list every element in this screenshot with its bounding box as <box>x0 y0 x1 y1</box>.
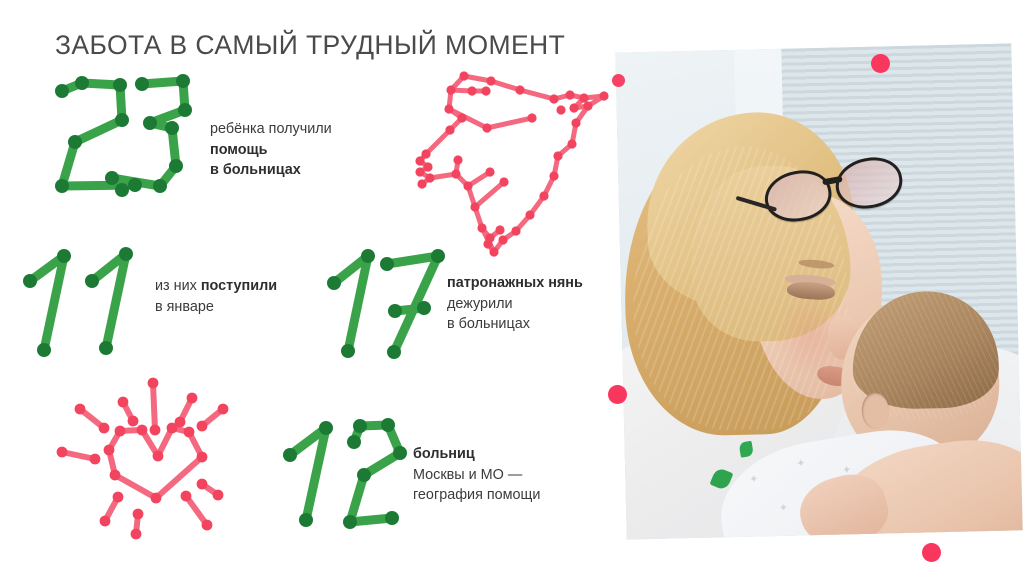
shining-heart-icon <box>52 378 277 543</box>
stat-23-line1: ребёнка получили <box>210 119 332 140</box>
stat-12-description: больниц Москвы и МО — география помощи <box>413 444 540 506</box>
stat-17-line1: патронажных нянь <box>447 275 583 291</box>
stat-11-line2: в январе <box>155 297 277 318</box>
accent-dot-left <box>608 385 627 404</box>
photo-content: ✦ ✦ ✦ ✦ ✦ ✦ ✦ ✦ ✦ ✦ ✦ ✦ <box>615 43 1022 539</box>
stat-12-line1: больниц <box>413 446 475 462</box>
glasses-lens-right <box>831 152 906 214</box>
stat-11-line1-plain: из них <box>155 278 201 294</box>
photo-mother-and-baby: ✦ ✦ ✦ ✦ ✦ ✦ ✦ ✦ ✦ ✦ ✦ ✦ <box>615 43 1022 539</box>
number-23-dot-art <box>50 78 200 193</box>
accent-dot-bottom-right <box>922 543 941 562</box>
stat-17-line2: дежурили <box>447 294 583 315</box>
stat-12-line2: Москвы и МО — <box>413 465 540 486</box>
stat-23-line3: в больницах <box>210 162 301 178</box>
accent-dot-photo-edge-left <box>612 74 625 87</box>
stat-17-line3: в больницах <box>447 314 583 335</box>
glasses-lens-left <box>760 165 835 227</box>
number-12-dot-art <box>288 420 413 535</box>
stat-11-line1-bold: поступили <box>201 278 277 294</box>
number-11-dot-art <box>22 248 147 358</box>
stat-17-description: патронажных нянь дежурили в больницах <box>447 273 583 335</box>
stat-23-line2: помощь <box>210 142 268 158</box>
stat-23-description: ребёнка получили помощь в больницах <box>210 119 332 181</box>
page-title: ЗАБОТА В САМЫЙ ТРУДНЫЙ МОМЕНТ <box>55 30 565 61</box>
accent-dot-top-right <box>871 54 890 73</box>
stat-11-description: из них поступили в январе <box>155 276 277 317</box>
number-17-dot-art <box>332 248 452 360</box>
infographic-page: ЗАБОТА В САМЫЙ ТРУДНЫЙ МОМЕНТ <box>0 0 1024 583</box>
stat-12-line3: география помощи <box>413 485 540 506</box>
stork-icon <box>418 68 618 258</box>
